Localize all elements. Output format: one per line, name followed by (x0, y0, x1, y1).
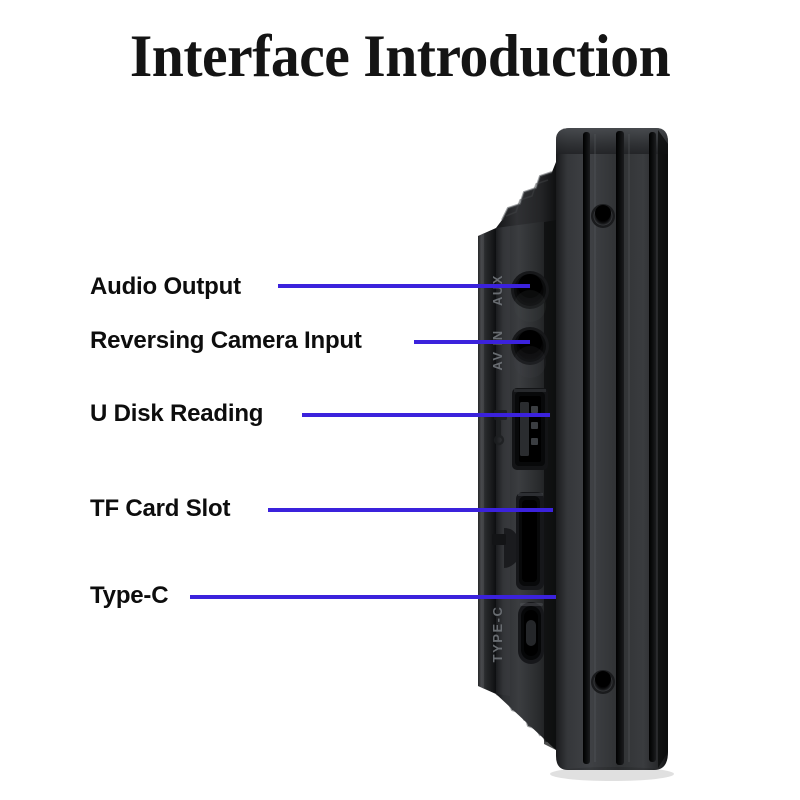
tf-slot-marking (492, 534, 506, 545)
callout-label-u-disk-reading: U Disk Reading (90, 400, 263, 428)
device-side-profile-svg: AUX AV IN (440, 110, 720, 790)
callout-label-audio-output: Audio Output (90, 273, 241, 301)
device-back-body (556, 128, 668, 770)
device-label-type-c: TYPE-C (490, 606, 505, 663)
callout-label-reversing-camera-input: Reversing Camera Input (90, 327, 362, 355)
port-aux-audio-output[interactable] (511, 271, 549, 322)
port-usb-a-u-disk[interactable] (512, 388, 548, 470)
leader-line-u-disk-reading (302, 413, 550, 417)
screenshot-canvas: Interface Introduction (0, 0, 800, 800)
screw-hole-bottom (591, 670, 615, 694)
leader-line-audio-output (278, 284, 530, 288)
port-av-in-reversing-camera[interactable] (511, 327, 549, 378)
screw-hole-top (591, 204, 615, 228)
device-illustration: AUX AV IN (440, 110, 720, 790)
leader-line-type-c (190, 595, 556, 599)
leader-line-reversing-camera-input (414, 340, 530, 344)
page-title: Interface Introduction (16, 20, 784, 92)
port-usb-c-type-c[interactable] (518, 602, 544, 664)
callout-label-tf-card-slot: TF Card Slot (90, 495, 230, 523)
device-label-av-in: AV IN (490, 329, 505, 370)
device-label-aux: AUX (490, 274, 505, 306)
leader-line-tf-card-slot (268, 508, 553, 512)
callout-label-type-c: Type-C (90, 582, 168, 610)
